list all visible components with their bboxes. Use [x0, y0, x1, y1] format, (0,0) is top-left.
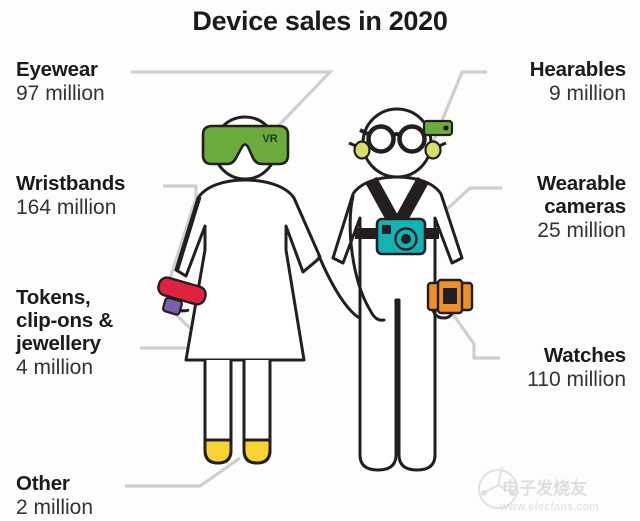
label-other: Other 2 million — [16, 472, 93, 520]
clip-on-token-device — [162, 297, 182, 315]
woman-shoe-left-other — [205, 440, 231, 463]
label-cameras-category-line2: cameras — [537, 195, 626, 218]
figure-man — [333, 109, 472, 470]
label-cameras-value: 25 million — [537, 218, 626, 243]
label-hearables: Hearables 9 million — [530, 58, 626, 106]
woman-shoe-right-other — [244, 440, 270, 463]
leader-watches — [452, 313, 500, 358]
label-wristbands: Wristbands 164 million — [16, 172, 125, 220]
label-hearables-category: Hearables — [530, 58, 626, 81]
label-wearable-cameras: Wearable cameras 25 million — [537, 172, 626, 243]
label-watches-category: Watches — [527, 344, 626, 367]
glasses-lens-right — [400, 127, 425, 152]
camera-lens — [401, 234, 411, 244]
earbud-right-stem — [439, 143, 446, 146]
label-eyewear-category: Eyewear — [16, 58, 105, 81]
earbud-right-hearable — [426, 142, 441, 159]
label-wristbands-category: Wristbands — [16, 172, 125, 195]
label-watches: Watches 110 million — [527, 344, 626, 392]
label-wristbands-value: 164 million — [16, 195, 125, 220]
camera-flash — [382, 225, 391, 234]
label-tokens-category-line1: Tokens, — [16, 286, 113, 309]
label-tokens-category-line2: clip-ons & — [16, 309, 113, 332]
label-eyewear: Eyewear 97 million — [16, 58, 105, 106]
vr-goggles-text: VR — [262, 133, 277, 145]
glasses-lens-left — [369, 127, 394, 152]
label-watches-value: 110 million — [527, 367, 626, 392]
glasses-bridge — [393, 134, 400, 136]
figure-woman: VR — [156, 117, 372, 463]
label-tokens-value: 4 million — [16, 355, 113, 380]
infographic-device-sales: Device sales in 2020 — [0, 0, 640, 521]
smartwatch-device — [428, 280, 472, 313]
label-other-value: 2 million — [16, 495, 93, 520]
label-tokens: Tokens, clip-ons & jewellery 4 million — [16, 286, 113, 380]
label-other-category: Other — [16, 472, 93, 495]
label-eyewear-value: 97 million — [16, 81, 105, 106]
watch-face — [443, 288, 457, 304]
label-cameras-category-line1: Wearable — [537, 172, 626, 195]
label-hearables-value: 9 million — [530, 81, 626, 106]
glasses-module-lens — [443, 125, 448, 130]
chest-camera-device — [377, 219, 425, 254]
label-tokens-category-line3: jewellery — [16, 332, 113, 355]
earbud-left-stem — [349, 143, 356, 146]
earbud-left-hearable — [355, 142, 370, 159]
